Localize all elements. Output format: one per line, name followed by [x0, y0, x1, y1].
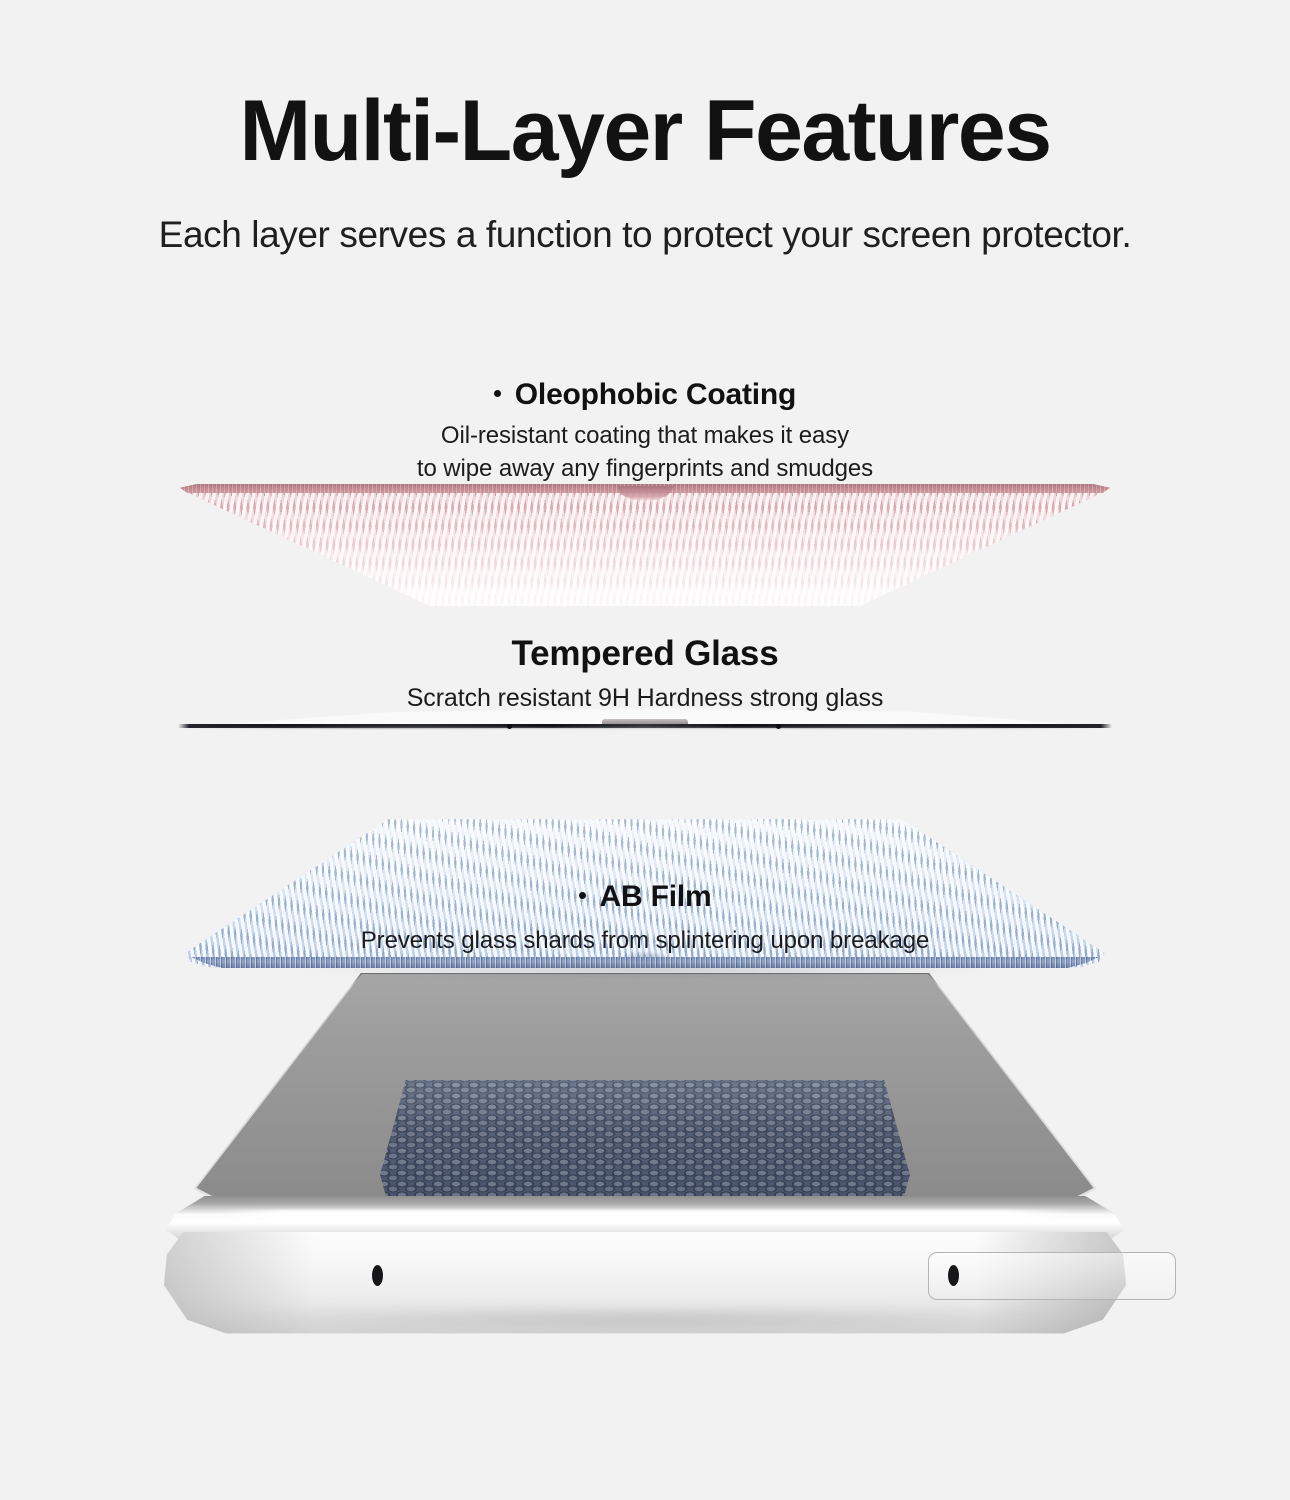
- oleophobic-coating-desc-line2: to wipe away any fingerprints and smudge…: [0, 453, 1290, 485]
- tempered-glass-desc: Scratch resistant 9H Hardness strong gla…: [0, 682, 1290, 715]
- tempered-glass-hole-left-icon: [507, 724, 512, 729]
- oleophobic-coating-layer-graphic: [178, 484, 1112, 606]
- phone-microphone-hole-icon: [372, 1265, 383, 1286]
- phone-sim-tray: [928, 1252, 1176, 1300]
- ab-film-desc: Prevents glass shards from splintering u…: [0, 925, 1290, 957]
- page-subtitle: Each layer serves a function to protect …: [0, 214, 1290, 256]
- page-title: Multi-Layer Features: [0, 88, 1290, 174]
- smartphone-illustration: [150, 960, 1140, 1350]
- tempered-glass-label: Tempered Glass: [0, 634, 1290, 674]
- ab-film-label-text: AB Film: [600, 880, 712, 913]
- phone-screen-texture-panel: [378, 1080, 912, 1208]
- tempered-glass-hole-right-icon: [776, 724, 781, 729]
- ab-film-shadow: [299, 963, 990, 977]
- oleophobic-coating-desc-line1: Oil-resistant coating that makes it easy: [0, 420, 1290, 452]
- oleophobic-coating-sheet: [178, 484, 1112, 606]
- oleophobic-coating-label-text: Oleophobic Coating: [515, 378, 796, 411]
- callout-ab-film: AB Film Prevents glass shards from splin…: [0, 880, 1290, 956]
- bullet-dot-icon: [494, 390, 501, 397]
- callout-tempered-glass: Tempered Glass Scratch resistant 9H Hard…: [0, 634, 1290, 715]
- phone-drop-shadow: [199, 1306, 1091, 1332]
- callout-oleophobic-coating: Oleophobic Coating Oil-resistant coating…: [0, 378, 1290, 485]
- tempered-glass-edge: [178, 724, 1112, 728]
- phone-sim-eject-hole-icon: [948, 1265, 959, 1286]
- ab-film-label: AB Film: [0, 880, 1290, 915]
- bullet-dot-icon: [579, 892, 586, 899]
- oleophobic-coating-label: Oleophobic Coating: [0, 378, 1290, 413]
- header: Multi-Layer Features Each layer serves a…: [0, 0, 1290, 256]
- phone-frame-gloss: [218, 1210, 1072, 1223]
